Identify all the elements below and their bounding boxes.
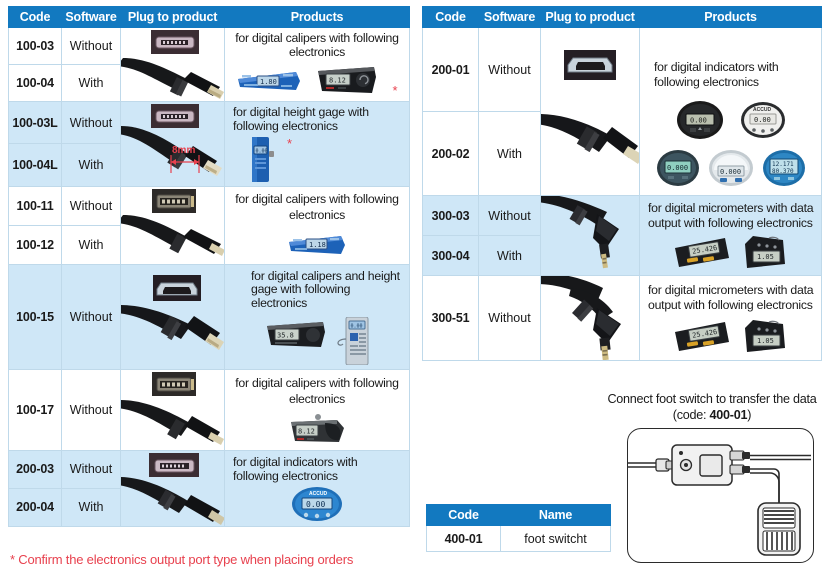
header-products: Products [640, 7, 822, 28]
cell-code: 400-01 [427, 526, 501, 552]
product-description: for digital indicators with following el… [640, 32, 821, 90]
table-header-row: Code Software Plug to product Products [423, 7, 822, 28]
product-images: 0.00 * [225, 134, 409, 186]
product-description: for digital micrometers with data output… [640, 197, 821, 231]
svg-text:ACCUD: ACCUD [753, 107, 771, 113]
asterisk-marker: * [287, 137, 292, 150]
cell-products: for digital micrometers with data output… [640, 196, 822, 276]
plug-artwork-right-angle-jack-b [541, 276, 639, 360]
asterisk-marker: * [392, 84, 397, 97]
product-images: 25.426 1.05 [640, 312, 821, 358]
cell-products: for digital calipers with following elec… [225, 370, 410, 451]
digital-height-gage-grey-icon: 0.00 [337, 317, 369, 365]
cell-code: 200-04 [9, 488, 62, 526]
product-description: for digital indicators with following el… [225, 451, 409, 484]
digital-indicator-round-icon: 0.00 ACCUD [291, 486, 343, 522]
cell-code: 100-15 [9, 264, 62, 369]
svg-text:0.00: 0.00 [754, 116, 771, 124]
digital-micrometer-angled-icon: 1.05 [743, 234, 789, 270]
cable-options-table-right: Code Software Plug to product Products 2… [422, 6, 822, 361]
cell-software: Without [62, 450, 121, 488]
product-images: 0.00 ACCUD [225, 484, 409, 526]
cell-code: 100-11 [9, 186, 62, 225]
product-images: 1.18 [225, 224, 409, 264]
svg-text:1.18: 1.18 [309, 241, 326, 249]
digital-indicator-white-icon: ACCUD 0.00 [740, 100, 786, 140]
svg-text:12.171: 12.171 [772, 161, 794, 168]
cell-products: for digital calipers with following elec… [225, 186, 410, 264]
svg-text:35.8: 35.8 [277, 332, 294, 340]
mini-usb-plug-icon [121, 265, 224, 361]
cell-products: for digital calipers with following elec… [225, 28, 410, 102]
cell-plug-image [121, 28, 225, 102]
header-code: Code [423, 7, 479, 28]
plug-artwork-miniusb-b [121, 265, 224, 369]
cell-code: 200-02 [423, 112, 479, 196]
svg-text:8.12: 8.12 [329, 76, 346, 84]
micro-usb-plug-icon [121, 28, 224, 101]
cell-plug-image [121, 186, 225, 264]
table-row: 400-01 foot switcht [427, 526, 611, 552]
cell-software: Without [479, 196, 541, 236]
table-row: 100-15 Without [9, 264, 410, 369]
cell-software: With [62, 65, 121, 102]
cell-plug-image [121, 264, 225, 369]
cell-software: Without [62, 28, 121, 65]
catalog-page: Code Software Plug to product Products 1… [0, 0, 828, 582]
cell-plug-image [121, 450, 225, 526]
svg-text:1.05: 1.05 [757, 337, 774, 345]
digital-caliper-black-icon: 8.12 [316, 63, 378, 97]
header-code: Code [427, 505, 501, 526]
plug-artwork-microusb-long: 8mm [121, 102, 224, 186]
product-description: for digital calipers with following elec… [225, 28, 409, 60]
svg-text:8.12: 8.12 [298, 427, 315, 435]
cell-code: 100-04 [9, 65, 62, 102]
table-row: 100-03 Without [9, 28, 410, 65]
digital-indicator-teal-icon: 0.000 [656, 148, 700, 188]
product-images: 35.8 0.00 [225, 311, 409, 369]
svg-text:8mm: 8mm [172, 145, 195, 156]
footswitch-code-suffix: ) [747, 408, 751, 422]
svg-text:1.05: 1.05 [757, 253, 774, 261]
cell-plug-image [121, 370, 225, 451]
header-plug: Plug to product [121, 7, 225, 28]
cell-software: With [479, 112, 541, 196]
digital-indicator-blue-icon: 12.171 80.370 [762, 148, 806, 188]
digital-micrometer-flat-icon: 25.426 [673, 236, 731, 270]
cell-products: for digital calipers and height gage wit… [225, 264, 410, 369]
plug-artwork-microusb-a [121, 28, 224, 101]
product-images: 25.426 1.05 [640, 231, 821, 274]
micro-usb-plug-icon [121, 451, 224, 526]
footswitch-caption: Connect foot switch to transfer the data… [596, 392, 828, 423]
footswitch-connection-diagram-icon [628, 429, 811, 560]
footswitch-table: Code Name 400-01 foot switcht [426, 504, 611, 552]
cell-plug-image: 8mm [121, 102, 225, 187]
svg-text:0.00: 0.00 [690, 116, 707, 124]
svg-text:80.370: 80.370 [772, 168, 794, 175]
product-description: for digital calipers with following elec… [225, 187, 409, 224]
table-header-row: Code Name [427, 505, 611, 526]
footswitch-code: 400-01 [710, 408, 748, 422]
cell-code: 200-01 [423, 28, 479, 112]
plug-artwork-miniusb-right [541, 28, 639, 195]
cell-code: 100-12 [9, 225, 62, 264]
cell-plug-image [541, 28, 640, 196]
product-images-row-1: 0.00 ACCUD 0.00 [640, 90, 821, 144]
mini-usb-plug-icon [541, 28, 639, 195]
header-name: Name [501, 505, 611, 526]
header-products: Products [225, 7, 410, 28]
table-row: 300-51 Without [423, 276, 822, 361]
digital-indicator-dark-icon: 0.00 [676, 100, 724, 140]
product-description: for digital height gage with following e… [225, 102, 409, 134]
product-images: 8.12 [225, 408, 409, 450]
dimension-annotation-8mm: 8mm [165, 142, 215, 176]
cell-code: 100-03L [9, 102, 62, 144]
product-images-row-2: 0.000 0.000 [640, 144, 821, 192]
svg-text:0.00: 0.00 [306, 500, 325, 509]
cell-software: With [62, 488, 121, 526]
digital-micrometer-angled-icon: 1.05 [743, 318, 789, 354]
cell-products: for digital indicators with following el… [225, 450, 410, 526]
cell-software: Without [62, 370, 121, 451]
cell-products: for digital micrometers with data output… [640, 276, 822, 361]
cell-plug-image [541, 276, 640, 361]
right-angle-audio-jack-icon [541, 276, 639, 360]
header-plug: Plug to product [541, 7, 640, 28]
footswitch-caption-line1: Connect foot switch to transfer the data [596, 392, 828, 408]
svg-text:0.00: 0.00 [256, 148, 268, 154]
product-description: for digital calipers and height gage wit… [225, 265, 409, 311]
cell-software: With [62, 225, 121, 264]
svg-text:0.00: 0.00 [351, 324, 363, 330]
cell-plug-image [541, 196, 640, 276]
digital-caliper-black-icon: 35.8 [265, 317, 327, 351]
product-description: for digital calipers with following elec… [225, 370, 409, 408]
digital-height-gage-icon: 0.00 [249, 137, 275, 182]
footswitch-diagram [627, 428, 814, 563]
cell-name: foot switcht [501, 526, 611, 552]
svg-text:0.000: 0.000 [720, 168, 741, 176]
header-software: Software [479, 7, 541, 28]
table-row: 100-17 Without [9, 370, 410, 451]
footnote-text: * Confirm the electronics output port ty… [10, 552, 353, 567]
cell-code: 200-03 [9, 450, 62, 488]
cell-software: Without [62, 102, 121, 144]
plug-artwork-miniusb-c [121, 370, 224, 450]
plug-artwork-miniusb-a [121, 187, 224, 264]
digital-caliper-blue-icon: 1.18 [287, 228, 347, 260]
product-description: for digital micrometers with data output… [640, 278, 821, 313]
cell-software: Without [479, 28, 541, 112]
header-code: Code [9, 7, 62, 28]
cell-software: Without [62, 264, 121, 369]
cell-code: 300-03 [423, 196, 479, 236]
cell-code: 300-04 [423, 236, 479, 276]
cell-software: Without [62, 186, 121, 225]
plug-artwork-microusb-b [121, 451, 224, 526]
table-row: 300-03 Without [423, 196, 822, 236]
table-row: 200-03 Without [9, 450, 410, 488]
table-row: 100-11 Without [9, 186, 410, 225]
cell-software: Without [479, 276, 541, 361]
product-images: 1.80 8.12 [225, 60, 409, 101]
cell-code: 100-04L [9, 144, 62, 186]
table-row: 100-03L Without [9, 102, 410, 144]
cell-code: 300-51 [423, 276, 479, 361]
digital-micrometer-flat-icon: 25.426 [673, 320, 731, 354]
footswitch-code-prefix: (code: [673, 408, 710, 422]
cell-products: for digital height gage with following e… [225, 102, 410, 187]
digital-indicator-silver-icon: 0.000 [708, 148, 754, 188]
svg-text:ACCUD: ACCUD [309, 491, 327, 497]
digital-caliper-dark-icon: 8.12 [287, 412, 347, 446]
mini-usb-plug-icon [121, 187, 224, 263]
cell-products: for digital indicators with following el… [640, 28, 822, 196]
header-software: Software [62, 7, 121, 28]
digital-caliper-blue-icon: 1.80 [236, 63, 302, 97]
cell-software: With [479, 236, 541, 276]
plug-artwork-right-angle-jack-a [541, 196, 639, 275]
cell-software: With [62, 144, 121, 186]
cell-code: 100-17 [9, 370, 62, 451]
cell-code: 100-03 [9, 28, 62, 65]
table-header-row: Code Software Plug to product Products [9, 7, 410, 28]
svg-text:1.80: 1.80 [260, 78, 277, 86]
right-angle-audio-jack-icon [541, 196, 639, 275]
svg-text:0.000: 0.000 [667, 164, 688, 172]
footswitch-caption-line2: (code: 400-01) [596, 408, 828, 424]
mini-usb-plug-icon [121, 370, 224, 450]
table-row: 200-01 Without [423, 28, 822, 112]
cable-options-table-left: Code Software Plug to product Products 1… [8, 6, 410, 527]
